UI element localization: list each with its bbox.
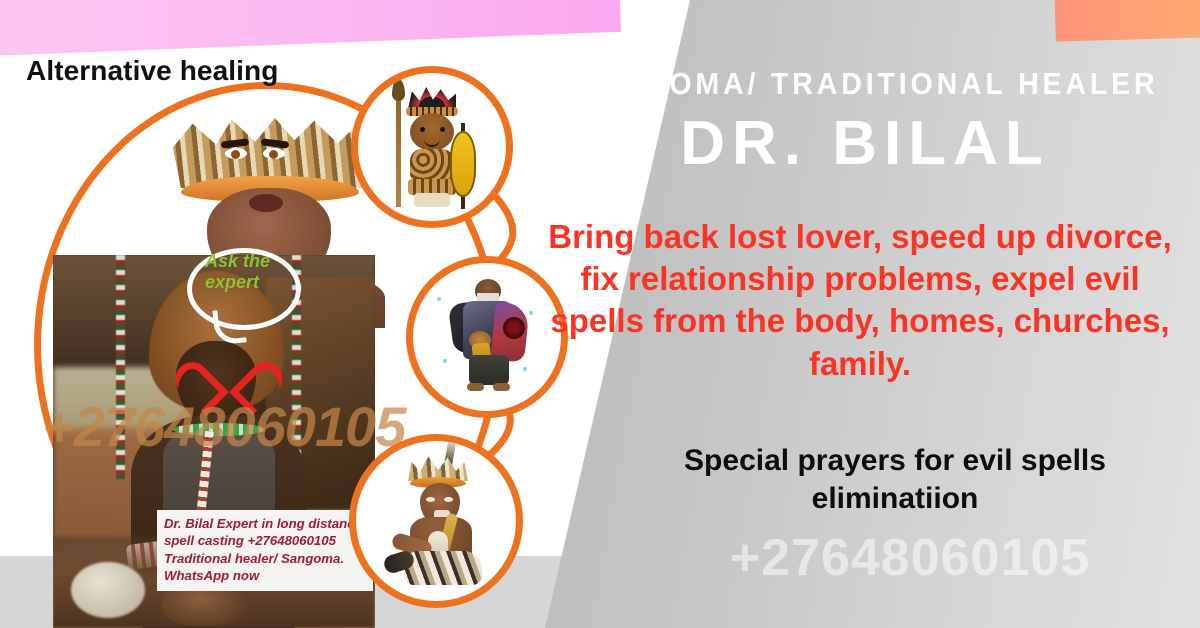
sangoma-eye-right (444, 497, 453, 502)
headline-doctor-name: DR. BILAL (545, 108, 1185, 179)
chief-mouth (249, 194, 283, 212)
heart-icon (196, 340, 262, 400)
kicker-text: SANGOMA/ TRADITIONAL HEALER (571, 66, 1160, 102)
kneeling-sangoma-icon (384, 455, 488, 585)
diviner-figure-icon (447, 279, 527, 395)
special-prayers-text: Special prayers for evil spells eliminat… (600, 442, 1190, 519)
services-description: Bring back lost lover, speed up divorce,… (530, 216, 1190, 385)
sparkle-icon (437, 297, 441, 301)
diviner-shoe-left (467, 383, 484, 391)
poster-canvas: Ask the expert +27648060105 Dr. Bilal Ex… (0, 0, 1200, 628)
circle-bubble-zulu-warrior (351, 66, 513, 228)
diviner-red-disc (503, 317, 525, 339)
sparkle-icon (523, 367, 527, 371)
chief-iris-left (231, 150, 240, 159)
spear-tip (392, 79, 405, 101)
spear-shaft (396, 83, 401, 207)
phone-number-watermark: +27648060105 (620, 528, 1200, 588)
zulu-warrior-icon (388, 83, 474, 209)
warrior-headdress (408, 87, 456, 109)
speech-bubble-text: Ask the expert (205, 251, 297, 292)
warrior-eye-left (420, 127, 425, 132)
sangoma-skirt (404, 551, 482, 585)
warrior-eye-right (440, 127, 445, 132)
chief-iris-right (269, 150, 278, 159)
diviner-trousers (469, 355, 509, 385)
photo-clay-pot (71, 562, 145, 618)
yellow-shield-icon (450, 131, 476, 197)
photo-caption: Dr. Bilal Expert in long distance spell … (157, 510, 373, 591)
warrior-legs (414, 193, 450, 207)
sparkle-icon (443, 359, 447, 363)
diviner-shoe-right (493, 383, 510, 391)
sangoma-eye-left (426, 497, 435, 502)
orange-top-banner (1054, 0, 1200, 42)
circle-bubble-kneeling-sangoma (349, 434, 523, 608)
left-collage: Ask the expert +27648060105 Dr. Bilal Ex… (0, 0, 620, 628)
alternative-healing-heading: Alternative healing (26, 55, 278, 87)
